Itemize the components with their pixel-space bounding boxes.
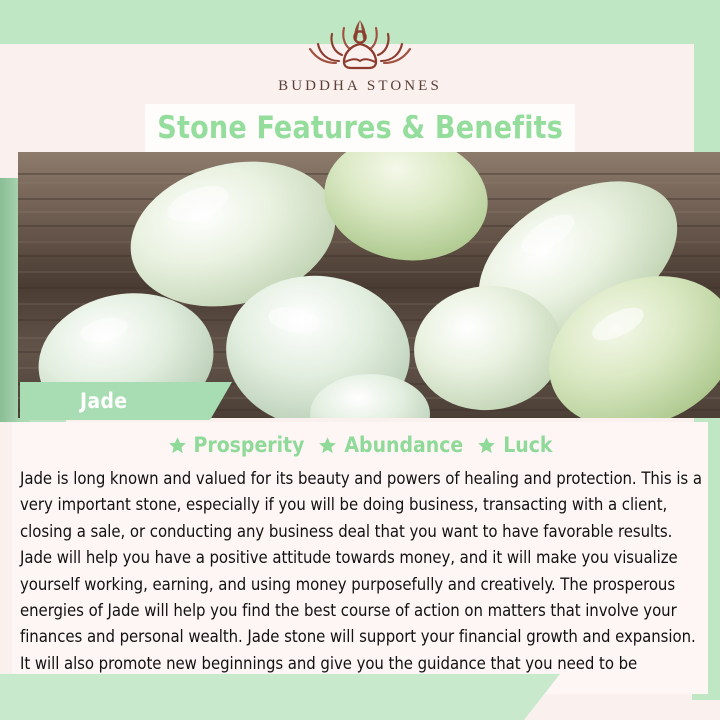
benefit-item: Luck xyxy=(477,433,552,457)
product-info-card: BUDDHA STONES Stone Features & Benefits xyxy=(0,0,720,720)
benefit-label: Prosperity xyxy=(194,433,305,457)
title-banner: Stone Features & Benefits xyxy=(145,104,575,152)
lotus-meditation-icon xyxy=(296,14,424,76)
brand-logo: BUDDHA STONES xyxy=(0,14,720,110)
benefit-label: Abundance xyxy=(344,433,463,457)
star-icon xyxy=(477,436,496,455)
star-icon xyxy=(318,436,337,455)
stone-photo-illustration xyxy=(18,152,720,418)
star-icon xyxy=(168,436,187,455)
stone-name-band: Jade xyxy=(20,382,232,420)
brand-name: BUDDHA STONES xyxy=(278,78,442,95)
benefits-list: Prosperity Abundance Luck xyxy=(12,428,708,462)
page-title: Stone Features & Benefits xyxy=(157,110,563,146)
stone-photo xyxy=(18,152,720,418)
benefit-item: Prosperity xyxy=(168,433,305,457)
stone-description: Jade is long known and valued for its be… xyxy=(20,466,702,704)
content-panel: Prosperity Abundance Luck Jade is long k… xyxy=(12,422,708,694)
frame-bottom-band xyxy=(0,674,560,720)
stone-name: Jade xyxy=(80,389,127,413)
benefit-item: Abundance xyxy=(318,433,463,457)
benefit-label: Luck xyxy=(503,433,552,457)
